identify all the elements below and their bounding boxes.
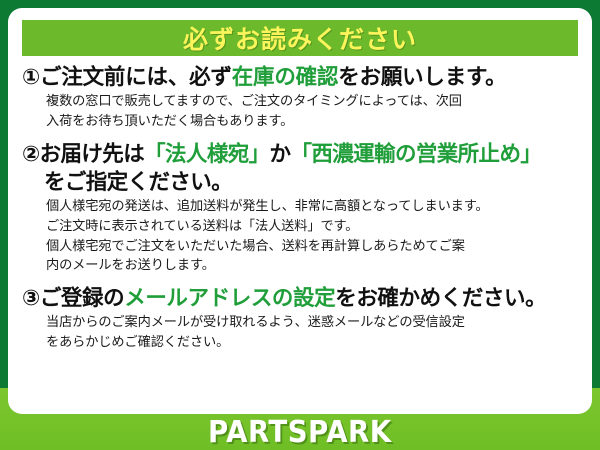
item-1-heading: ①ご注文前には、必ず在庫の確認をお願いします。 (22, 64, 582, 92)
item-2-sub-line-1: 個人様宅宛の発送は、追加送料が発生し、非常に高額となってしまいます。 (46, 198, 582, 217)
item-2-sub-line-2: ご注文時に表示されている送料は「法人送料」です。 (46, 218, 582, 237)
item-1-sub-line-1: 複数の窓口で販売してますので、ご注文のタイミングによっては、次回 (46, 93, 582, 112)
item-3-marker: ③ (22, 286, 40, 311)
item-3-heading: ③ご登録のメールアドレスの設定をお確かめください。 (22, 285, 582, 313)
notice-body: ①ご注文前には、必ず在庫の確認をお願いします。 複数の窓口で販売してますので、ご… (8, 64, 592, 357)
notice-item-3: ③ご登録のメールアドレスの設定をお確かめください。 当店からのご案内メールが受け… (22, 285, 582, 352)
item-3-sub-line-1: 当店からのご案内メールが受け取れるよう、迷惑メールなどの受信設定 (46, 314, 582, 333)
notice-title: 必ずお読みください (183, 20, 417, 56)
item-1-sub-line-2: 入荷をお待ち頂いただく場合もあります。 (46, 113, 582, 132)
item-3-head-post: をお確かめください。 (335, 286, 546, 311)
item-2-sub-line-4: 内のメールをお送りします。 (46, 257, 582, 276)
item-2-highlight-1: 「法人様宛」 (144, 142, 269, 167)
item-1-marker: ① (22, 65, 40, 90)
item-3-sub-line-2: をあらかじめご確認ください。 (46, 334, 582, 353)
item-2-marker: ② (22, 142, 40, 167)
title-banner: 必ずお読みください (22, 20, 578, 56)
item-1-head-post: をお願いします。 (338, 65, 506, 90)
notice-item-1: ①ご注文前には、必ず在庫の確認をお願いします。 複数の窓口で販売してますので、ご… (22, 64, 582, 131)
notice-card: 必ずお読みください ①ご注文前には、必ず在庫の確認をお願いします。 複数の窓口で… (0, 0, 600, 450)
item-2-head-mid: か (270, 142, 291, 167)
item-2-heading: ②お届け先は「法人様宛」か「西濃運輸の営業所止め」 (22, 141, 582, 169)
item-3-highlight: メールアドレスの設定 (124, 286, 335, 311)
item-2-heading-line-2: をご指定ください。 (22, 169, 582, 197)
item-1-head-pre: ご注文前には、必ず (40, 65, 232, 90)
item-2-sub-line-3: 個人様宅宛でご注文をいただいた場合、送料を再計算しあらためてご案 (46, 238, 582, 257)
item-3-head-pre: ご登録の (40, 286, 124, 311)
item-2-head-pre: お届け先は (40, 142, 145, 167)
notice-panel: 必ずお読みください ①ご注文前には、必ず在庫の確認をお願いします。 複数の窓口で… (8, 8, 592, 414)
item-2-highlight-2: 「西濃運輸の営業所止め」 (290, 142, 541, 167)
notice-item-2: ②お届け先は「法人様宛」か「西濃運輸の営業所止め」 をご指定ください。 個人様宅… (22, 141, 582, 276)
item-1-highlight: 在庫の確認 (232, 65, 339, 90)
